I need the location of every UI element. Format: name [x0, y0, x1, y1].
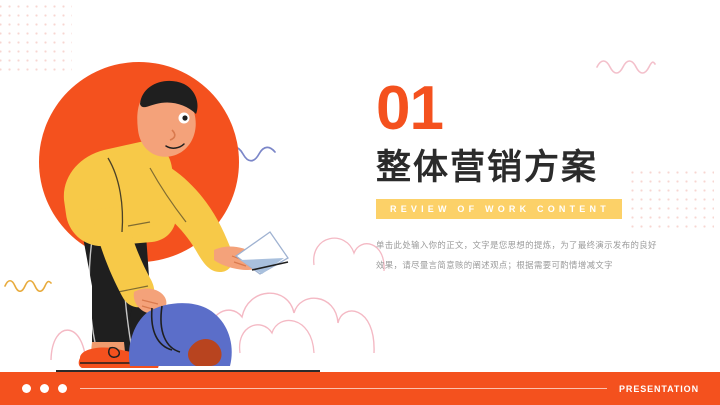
wave-line-pink-icon — [596, 58, 656, 74]
body-text-line-2: 效果，请尽量言简意赅的阐述观点；根据需要可酌情增减文字 — [376, 255, 676, 275]
slide-title: 整体营销方案 — [376, 148, 696, 188]
subtitle-banner: REVIEW OF WORK CONTENT — [376, 199, 622, 219]
body-text-line-1: 单击此处输入你的正文，文字是您思想的提炼，为了最终演示发布的良好 — [376, 235, 676, 255]
illustration-person-holding-blue-bag — [0, 60, 360, 370]
footer-dot-3 — [58, 384, 67, 393]
section-number: 01 — [376, 78, 696, 140]
slide-footer: PRESENTATION — [0, 372, 720, 405]
slide-body-text: 单击此处输入你的正文，文字是您思想的提炼，为了最终演示发布的良好 效果，请尽量言… — [376, 235, 676, 275]
footer-dots-decoration — [22, 384, 67, 393]
footer-dot-1 — [22, 384, 31, 393]
footer-dot-2 — [40, 384, 49, 393]
footer-label: PRESENTATION — [619, 384, 699, 394]
slide-content-block: 01 整体营销方案 REVIEW OF WORK CONTENT 单击此处输入你… — [376, 78, 696, 275]
presentation-slide: 01 整体营销方案 REVIEW OF WORK CONTENT 单击此处输入你… — [0, 0, 720, 405]
footer-divider-line — [80, 388, 607, 389]
